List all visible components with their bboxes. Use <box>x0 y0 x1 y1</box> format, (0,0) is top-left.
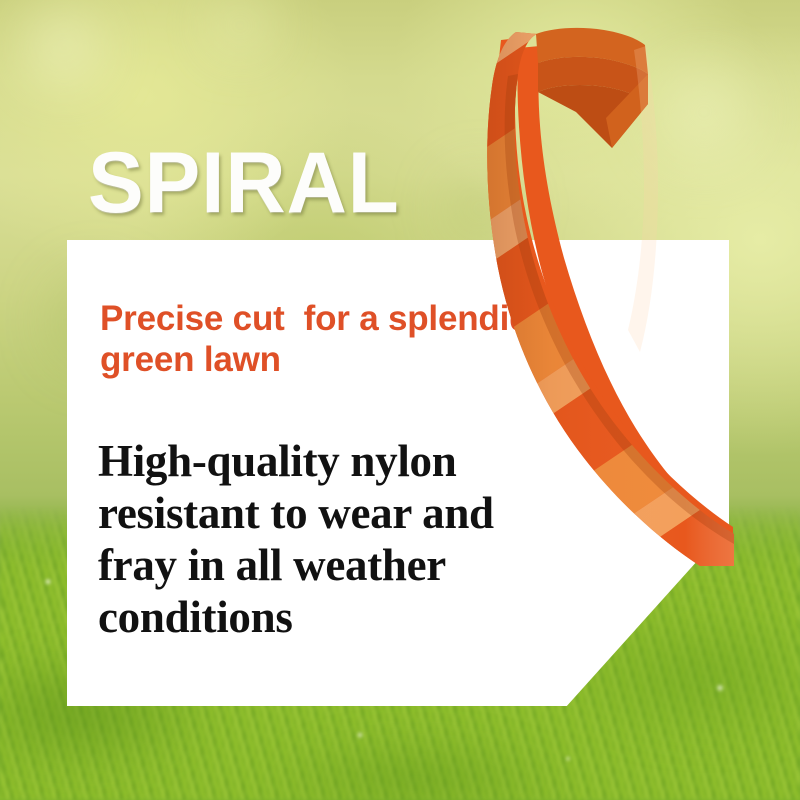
page-title: SPIRAL <box>88 140 400 226</box>
product-promo-banner: SPIRAL Precise cut for a splendid green … <box>0 0 800 800</box>
headline-text: Precise cut for a splendid green lawn <box>100 298 620 380</box>
body-text: High-quality nylon resistant to wear and… <box>98 435 528 643</box>
content-card-body: Precise cut for a splendid green lawn Hi… <box>67 240 729 706</box>
